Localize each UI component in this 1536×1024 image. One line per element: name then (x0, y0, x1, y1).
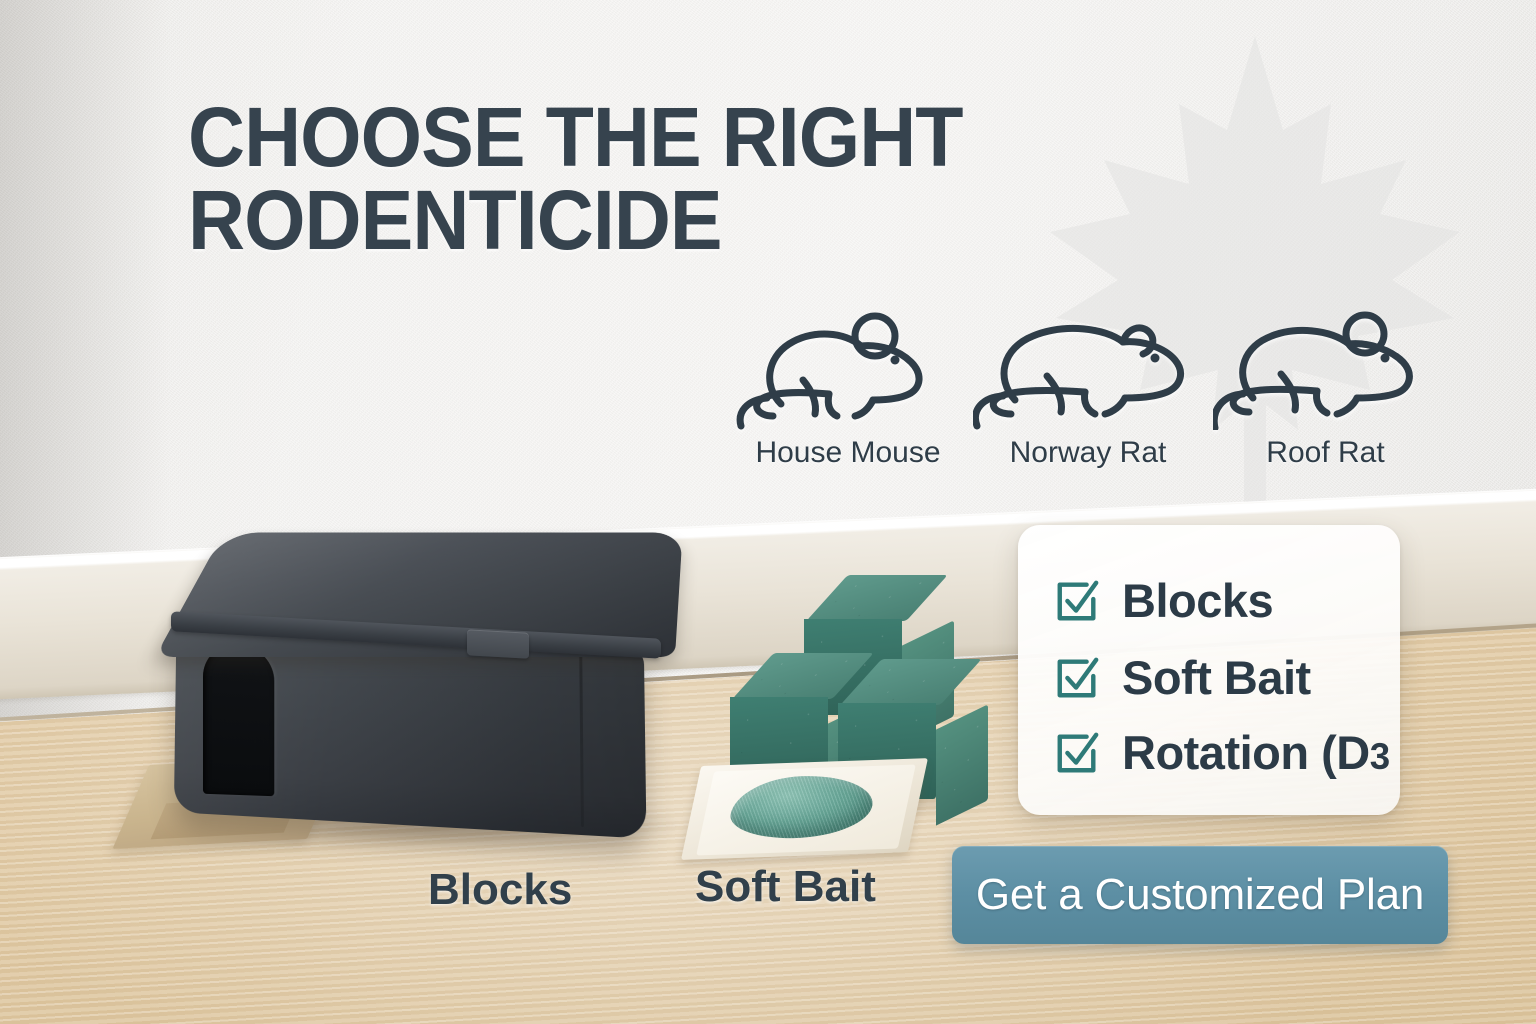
norway-rat-icon (973, 300, 1203, 430)
bait-station-latch (467, 629, 529, 658)
checklist-label-rotation-sub: 3 (1370, 736, 1390, 777)
headline-line-1: CHOOSE THE RIGHT (188, 90, 963, 184)
rodent-item-roof-rat: Roof Rat (1213, 300, 1438, 470)
rodent-label-norway-rat: Norway Rat (973, 436, 1203, 470)
checklist-label-rotation: Rotation (D3 (1122, 725, 1390, 780)
rodent-item-house-mouse: House Mouse (733, 300, 963, 470)
checklist-label-blocks: Blocks (1122, 573, 1273, 628)
checklist-item-rotation[interactable]: Rotation (D3 (1054, 725, 1390, 780)
soft-bait-sachet (692, 762, 928, 866)
poster-canvas: CHOOSE THE RIGHT RODENTICIDE House Mouse (0, 0, 1536, 1024)
checklist-item-soft-bait[interactable]: Soft Bait (1054, 650, 1311, 705)
rodent-item-norway-rat: Norway Rat (973, 300, 1203, 470)
page-title: CHOOSE THE RIGHT RODENTICIDE (188, 96, 1053, 262)
bait-block-top-face (806, 575, 947, 621)
checkbox-checked-icon[interactable] (1054, 578, 1100, 624)
checklist-card: Blocks Soft Bait Rotation (D3 (1018, 525, 1400, 815)
roof-rat-icon (1213, 300, 1438, 430)
checkbox-checked-icon[interactable] (1054, 730, 1100, 776)
checklist-label-soft-bait: Soft Bait (1122, 650, 1311, 705)
bait-station (155, 485, 675, 825)
checklist-item-blocks[interactable]: Blocks (1054, 573, 1273, 628)
rodent-label-house-mouse: House Mouse (733, 436, 963, 470)
checkbox-checked-icon[interactable] (1054, 655, 1100, 701)
rodent-type-row: House Mouse Norway Rat (725, 300, 1445, 490)
get-customized-plan-button[interactable]: Get a Customized Plan (952, 846, 1448, 944)
cta-button-label: Get a Customized Plan (976, 870, 1424, 920)
rodent-label-roof-rat: Roof Rat (1213, 436, 1438, 470)
bait-station-entry-hole (203, 642, 274, 796)
headline-line-2: RODENTICIDE (188, 179, 1053, 262)
checklist-label-rotation-prefix: Rotation (D (1122, 726, 1370, 779)
product-label-soft-bait: Soft Bait (695, 862, 876, 912)
product-label-blocks: Blocks (428, 865, 572, 915)
mouse-icon (733, 300, 963, 430)
